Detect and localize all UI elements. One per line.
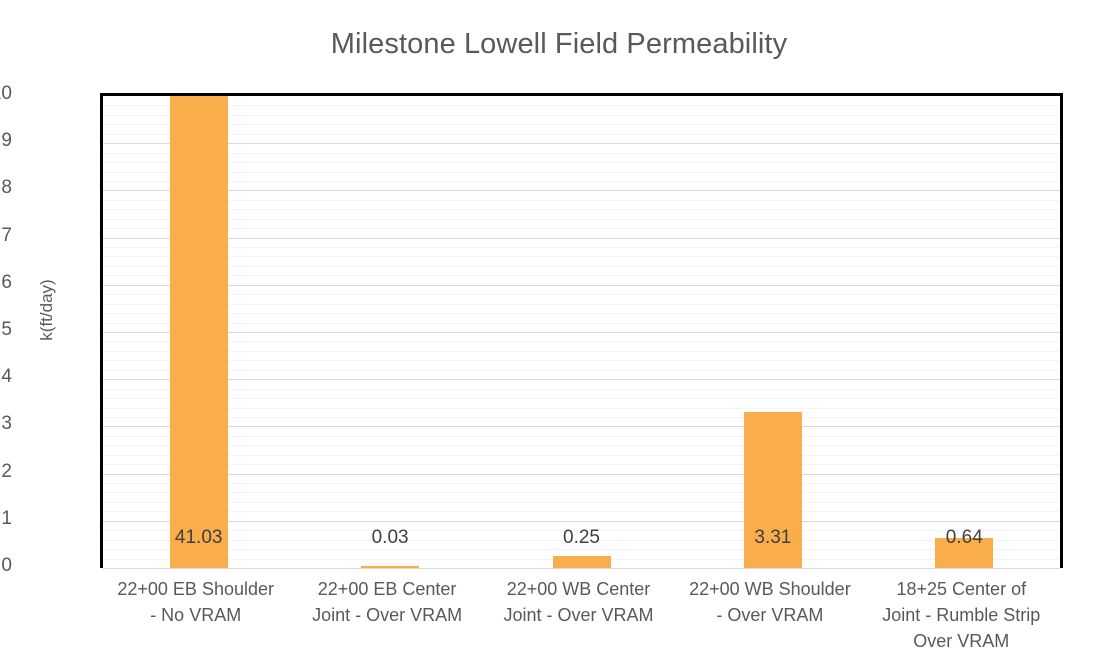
y-tick-label: 10 xyxy=(0,84,12,103)
x-category-label-line: 18+25 Center of xyxy=(866,576,1057,602)
x-category-label: 22+00 EB CenterJoint - Over VRAM xyxy=(291,576,482,628)
x-category-label-line: 22+00 WB Shoulder xyxy=(674,576,865,602)
y-tick-label: 6 xyxy=(0,273,12,292)
bar[interactable] xyxy=(170,96,228,568)
y-tick-label: 0 xyxy=(0,556,12,575)
x-category-label: 18+25 Center ofJoint - Rumble StripOver … xyxy=(866,576,1057,654)
y-tick-label: 5 xyxy=(0,320,12,339)
bar-value-label: 3.31 xyxy=(716,528,830,547)
x-category-label: 22+00 WB Shoulder- Over VRAM xyxy=(674,576,865,628)
y-axis-title: k(ft/day) xyxy=(37,250,57,370)
bar[interactable] xyxy=(553,556,611,568)
bar-value-label: 0.25 xyxy=(525,528,639,547)
chart-container: Milestone Lowell Field Permeability k(ft… xyxy=(0,0,1118,668)
x-axis-category-labels: 22+00 EB Shoulder- No VRAM22+00 EB Cente… xyxy=(100,576,1057,668)
chart-title: Milestone Lowell Field Permeability xyxy=(0,28,1118,61)
x-category-label-line: 22+00 WB Center xyxy=(483,576,674,602)
bar-value-label: 0.64 xyxy=(907,528,1021,547)
bar[interactable] xyxy=(361,566,419,568)
x-category-label: 22+00 EB Shoulder- No VRAM xyxy=(100,576,291,628)
bar-slot: 0.03 xyxy=(361,96,419,568)
y-tick-label: 9 xyxy=(0,131,12,150)
bar-slot: 0.25 xyxy=(553,96,611,568)
y-tick-label: 8 xyxy=(0,178,12,197)
y-tick-label: 7 xyxy=(0,226,12,245)
x-category-label-line: Over VRAM xyxy=(866,628,1057,654)
y-tick-label: 2 xyxy=(0,462,12,481)
bars-layer: 41.030.030.253.310.64 xyxy=(103,96,1060,568)
y-tick-label: 3 xyxy=(0,414,12,433)
x-category-label-line: - No VRAM xyxy=(100,602,291,628)
y-tick-label: 4 xyxy=(0,367,12,386)
major-gridline xyxy=(103,568,1060,569)
x-category-label: 22+00 WB CenterJoint - Over VRAM xyxy=(483,576,674,628)
x-category-label-line: Joint - Over VRAM xyxy=(291,602,482,628)
bar-value-label: 0.03 xyxy=(333,528,447,547)
bar-value-label: 41.03 xyxy=(142,528,256,547)
bar-slot: 41.03 xyxy=(170,96,228,568)
x-category-label-line: 22+00 EB Shoulder xyxy=(100,576,291,602)
bar-slot: 3.31 xyxy=(744,96,802,568)
x-category-label-line: - Over VRAM xyxy=(674,602,865,628)
x-category-label-line: 22+00 EB Center xyxy=(291,576,482,602)
x-category-label-line: Joint - Over VRAM xyxy=(483,602,674,628)
bar-slot: 0.64 xyxy=(935,96,993,568)
plot-area: 41.030.030.253.310.64 xyxy=(100,93,1063,568)
x-category-label-line: Joint - Rumble Strip xyxy=(866,602,1057,628)
y-tick-label: 1 xyxy=(0,509,12,528)
